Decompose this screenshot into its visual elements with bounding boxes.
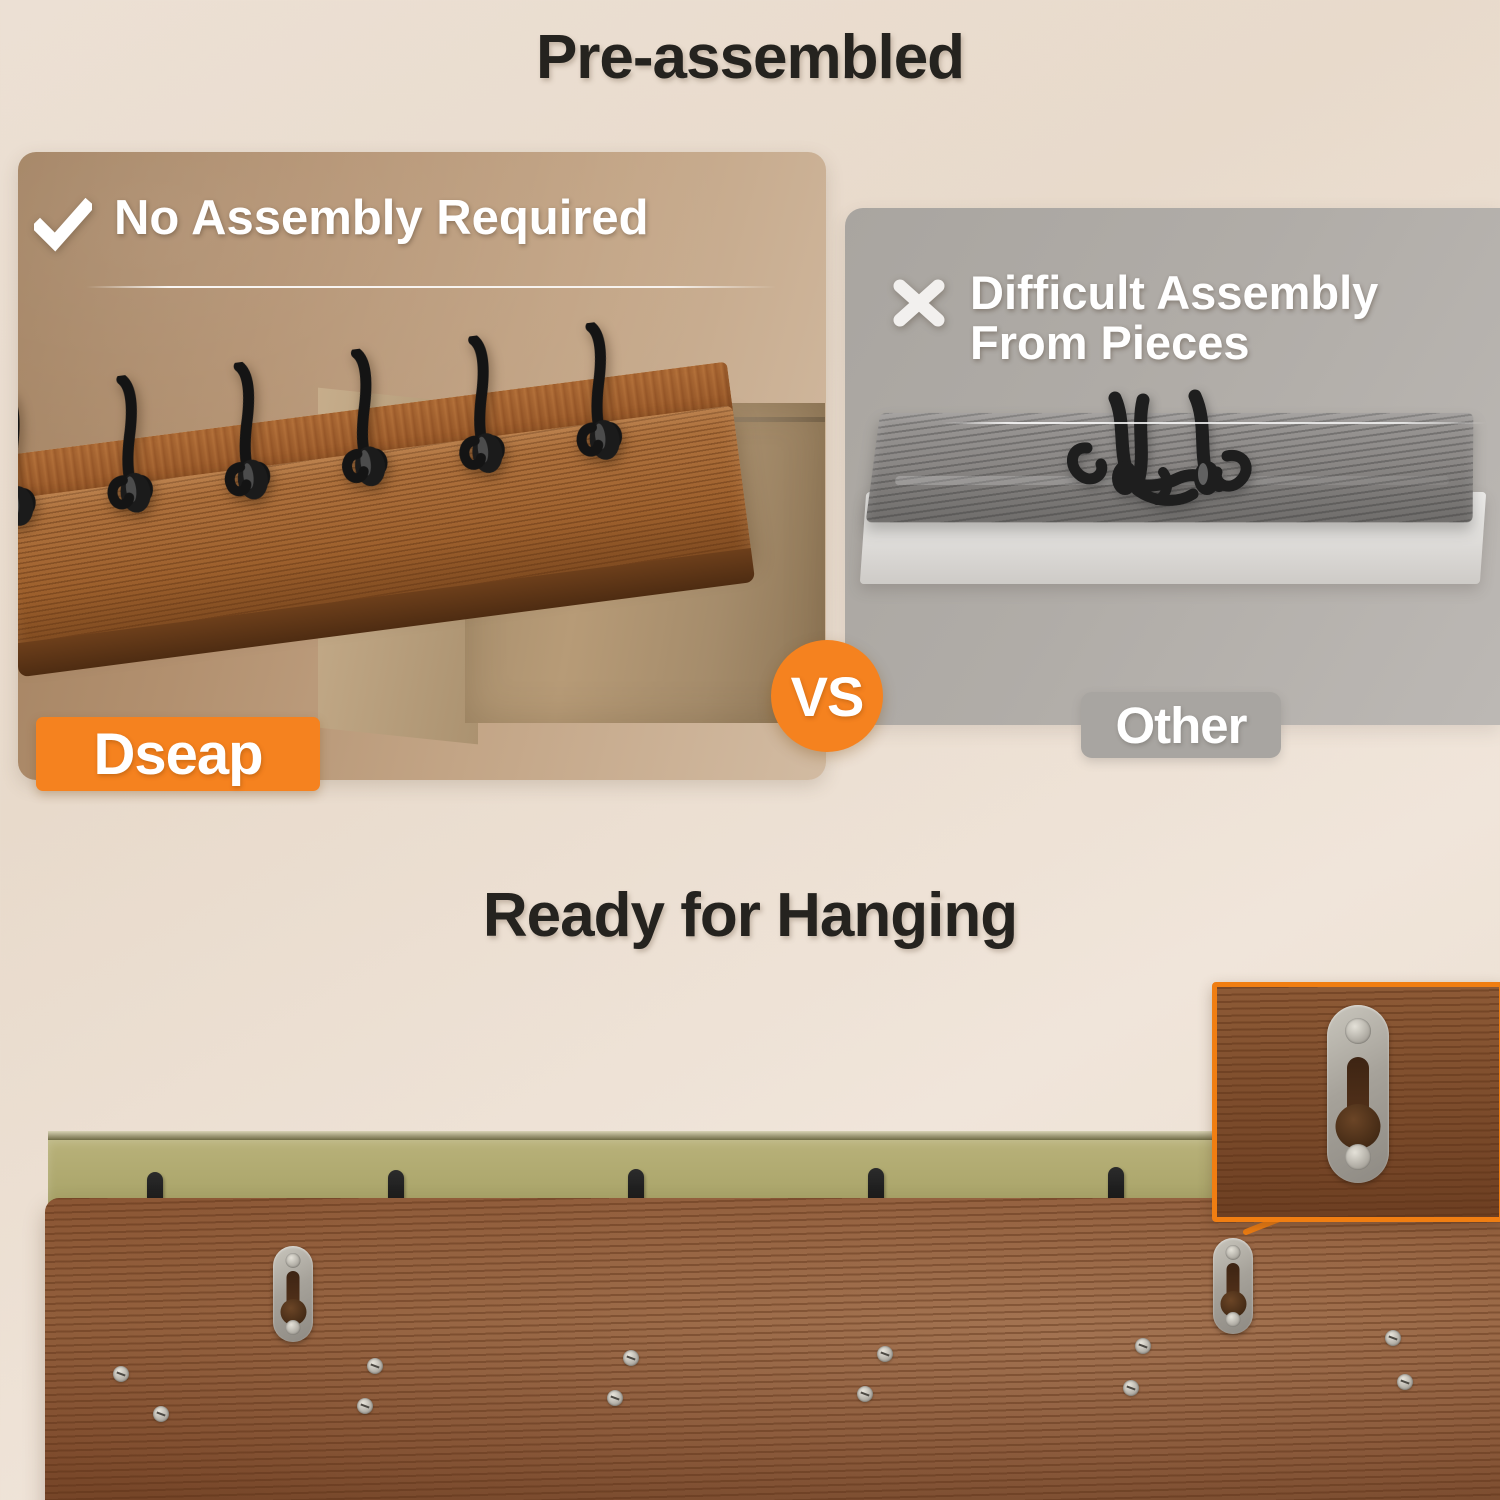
bracket-screw (286, 1253, 301, 1268)
other-product-photo (845, 380, 1500, 640)
keyhole-slot (1347, 1057, 1369, 1135)
keyhole-bracket-detail (1327, 1005, 1389, 1183)
other-claim-row: Difficult Assembly From Pieces (890, 268, 1378, 369)
keyhole-callout (1212, 982, 1500, 1222)
mounting-screw (1385, 1330, 1401, 1346)
brand-badge-label: Dseap (93, 721, 262, 788)
mounting-screw (153, 1406, 169, 1422)
dseap-product-photo (18, 300, 826, 780)
mounting-screw (1135, 1338, 1151, 1354)
keyhole-slot (287, 1271, 300, 1317)
page-title-pre-assembled: Pre-assembled (0, 22, 1500, 93)
bracket-screw (1345, 1144, 1371, 1170)
mounting-screw (857, 1386, 873, 1402)
keyhole-slot (1227, 1263, 1240, 1309)
other-divider (942, 422, 1487, 424)
keyhole-bracket (1213, 1238, 1253, 1334)
marketing-image: Pre-assembled (0, 0, 1500, 1500)
mounting-screw (877, 1346, 893, 1362)
check-icon (34, 198, 92, 256)
versus-badge: VS (771, 640, 883, 752)
loose-hooks-pile (1067, 386, 1317, 536)
mounting-screw (623, 1350, 639, 1366)
mounting-screw (1397, 1374, 1413, 1390)
bracket-screw (286, 1320, 301, 1335)
brand-badge-dseap: Dseap (36, 717, 320, 791)
mounting-screw (1123, 1380, 1139, 1396)
brand-badge-other: Other (1081, 692, 1281, 758)
mounting-screw (367, 1358, 383, 1374)
other-claim-text: Difficult Assembly From Pieces (970, 268, 1378, 369)
keyhole-bracket (273, 1246, 313, 1342)
other-badge-label: Other (1115, 696, 1246, 755)
dseap-claim-text: No Assembly Required (114, 192, 649, 244)
mounting-screw (607, 1390, 623, 1406)
versus-label: VS (791, 664, 864, 729)
mounting-screw (357, 1398, 373, 1414)
dseap-divider (86, 286, 776, 288)
cross-icon (890, 274, 948, 332)
mounting-screw (113, 1366, 129, 1382)
bracket-screw (1345, 1018, 1371, 1044)
bracket-screw (1226, 1312, 1241, 1327)
page-title-ready-for-hanging: Ready for Hanging (0, 880, 1500, 951)
dseap-claim-row: No Assembly Required (34, 192, 649, 256)
